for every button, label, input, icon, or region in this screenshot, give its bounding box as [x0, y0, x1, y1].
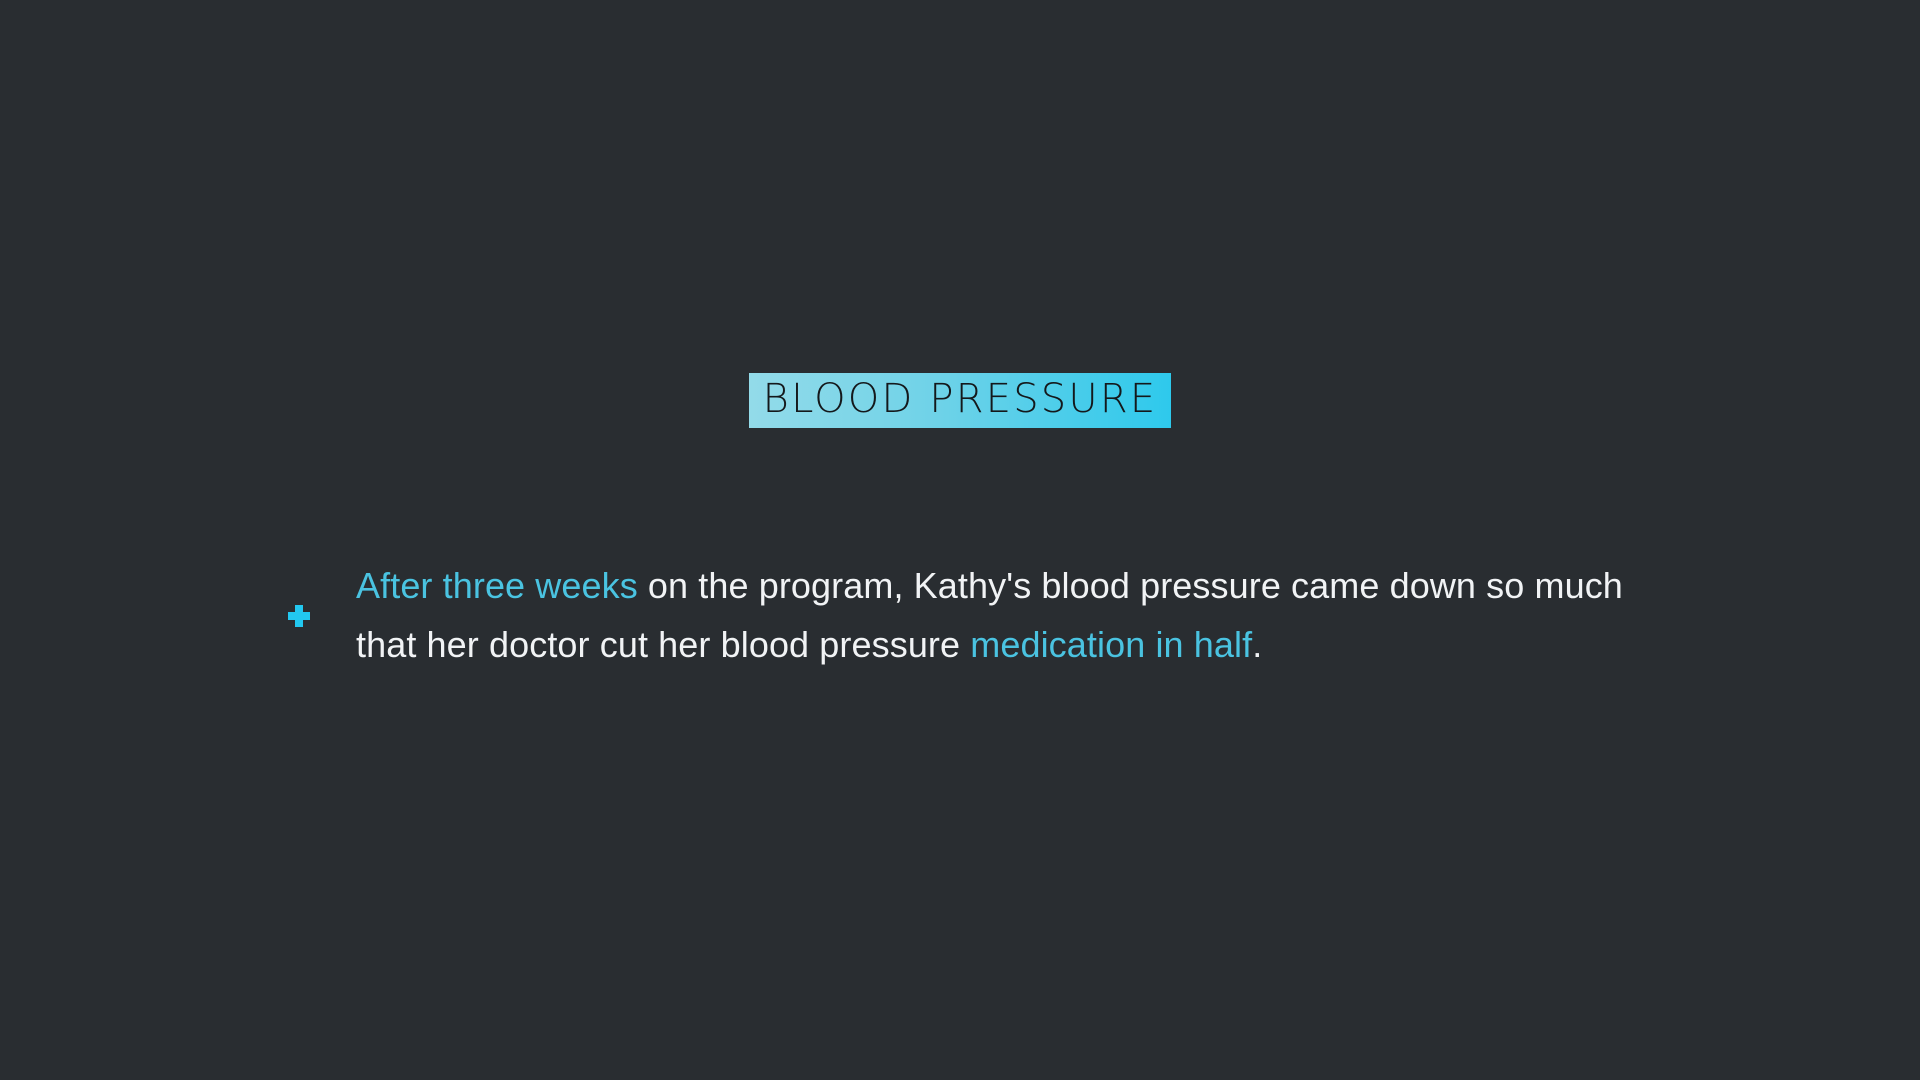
plus-icon	[288, 605, 310, 627]
bullet-body-text-second: .	[1252, 624, 1262, 665]
slide-title-container: BLOOD PRESSURE	[0, 373, 1920, 428]
slide-canvas: BLOOD PRESSURE After three weeks on the …	[0, 0, 1920, 1080]
bullet-trailing-accent-text: medication in half	[970, 624, 1252, 665]
bullet-lead-accent-text: After three weeks	[356, 565, 638, 606]
bullet-text: After three weeks on the program, Kathy'…	[356, 556, 1628, 674]
bullet-item: After three weeks on the program, Kathy'…	[288, 520, 1628, 710]
page-title: BLOOD PRESSURE	[763, 379, 1158, 419]
title-highlight-band: BLOOD PRESSURE	[749, 373, 1172, 428]
plus-icon-vertical-bar	[295, 605, 303, 627]
